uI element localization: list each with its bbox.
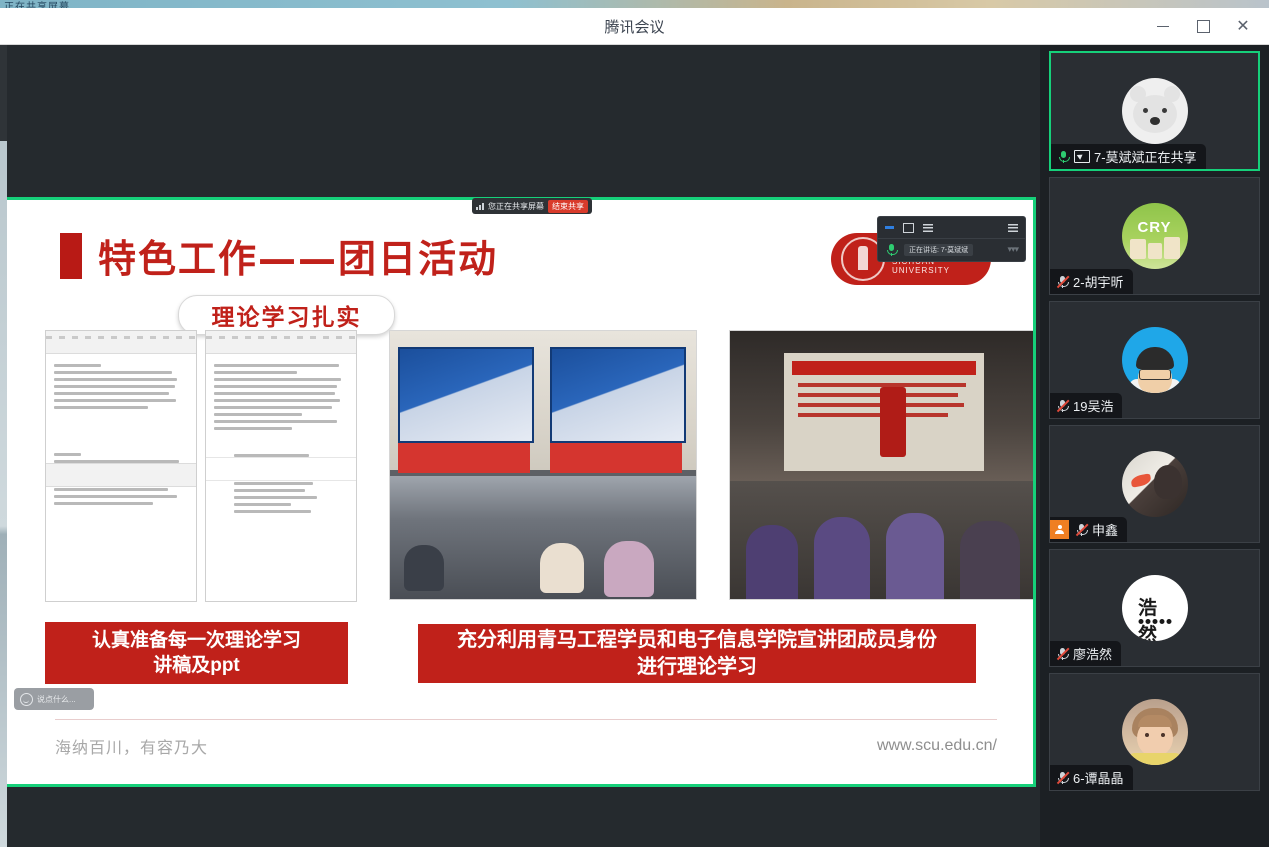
- photo-person-3: [540, 543, 584, 593]
- participant-tile-1[interactable]: CRY 2-胡宇昕: [1049, 177, 1260, 295]
- slide-title-group: 特色工作——团日活动: [60, 228, 498, 283]
- caption-right: 充分利用青马工程学员和电子信息学院宣讲团成员身份 进行理论学习: [418, 624, 976, 683]
- boy-portrait-avatar: [1122, 327, 1188, 393]
- microphone-icon[interactable]: [885, 243, 898, 256]
- photo-slide-heading: [792, 361, 976, 375]
- microphone-muted-icon: [1075, 523, 1088, 536]
- participant-name-3: 申鑫: [1092, 520, 1118, 539]
- minimize-icon[interactable]: [885, 226, 894, 229]
- share-status-pill: 您正在共享屏幕 结束共享: [472, 198, 592, 214]
- participant-namebar-3: 申鑫: [1050, 517, 1127, 542]
- chat-input-pill[interactable]: 说点什么...: [14, 688, 94, 710]
- photo-hall-person-3: [886, 513, 944, 599]
- photo-projection-right: [550, 347, 686, 443]
- maximize-icon: [1197, 20, 1210, 33]
- caption-right-line-2: 进行理论学习: [637, 654, 757, 680]
- footer-row: 海纳百川，有容乃大 www.scu.edu.cn/: [55, 720, 997, 758]
- participant-tile-4[interactable]: 浩然 廖浩然: [1049, 549, 1260, 667]
- participant-namebar-5: 6-谭晶晶: [1050, 765, 1133, 790]
- caption-left: 认真准备每一次理论学习 讲稿及ppt: [45, 622, 348, 684]
- floating-meeting-toolbar[interactable]: 正在讲话: 7-莫斌斌 ▾▾▾: [877, 216, 1026, 262]
- microphone-muted-icon: [1056, 399, 1069, 412]
- screen-share-icon: [1074, 150, 1090, 163]
- participant-name-1: 2-胡宇昕: [1073, 272, 1124, 291]
- slide-subtitle-badge: 理论学习扎实: [178, 295, 395, 335]
- panel-classroom-photo: [389, 330, 697, 610]
- photo-projection-left: [398, 347, 534, 443]
- window-controls: ✕: [1143, 8, 1263, 44]
- toolbar-speaking-row: 正在讲话: 7-莫斌斌 ▾▾▾: [878, 239, 1025, 260]
- panel-auditorium-photo: [729, 330, 1033, 610]
- caption-right-line-1: 充分利用青马工程学员和电子信息学院宣讲团成员身份: [457, 627, 937, 653]
- cry-cartoon-avatar: CRY: [1122, 203, 1188, 269]
- window-title-bar: 腾讯会议 ✕: [0, 8, 1269, 45]
- document-text-lines-3: [206, 354, 356, 440]
- calligraphy-avatar: 浩然: [1122, 575, 1188, 641]
- slide-content-panels: [45, 330, 1025, 610]
- koi-fish-photo-avatar: [1122, 451, 1188, 517]
- photo-person-2: [464, 543, 510, 595]
- photo-slide-line-2: [798, 393, 958, 397]
- window-title: 腾讯会议: [0, 16, 1269, 37]
- document-scan-pair: [45, 330, 357, 602]
- close-icon: ✕: [1236, 18, 1249, 34]
- photo-hall-person-1: [746, 525, 798, 599]
- photo-banner-right: [550, 443, 682, 473]
- minimize-icon: [1157, 26, 1169, 27]
- caption-left-line-1: 认真准备每一次理论学习: [92, 628, 301, 653]
- panel-scanned-documents: [45, 330, 357, 610]
- presentation-slide: 特色工作——团日活动 理论学习扎实 四川大学 SICHUAN UNIVERSIT…: [7, 200, 1033, 784]
- participant-tile-5[interactable]: 6-谭晶晶: [1049, 673, 1260, 791]
- microphone-muted-icon: [1056, 275, 1069, 288]
- document-page-right: [205, 330, 357, 602]
- background-app-edge-strip: [0, 45, 7, 847]
- panel-toggle-icon[interactable]: [1008, 224, 1018, 232]
- speaking-label: 正在讲话: 7-莫斌斌: [904, 244, 973, 256]
- minimize-button[interactable]: [1143, 11, 1183, 41]
- slide-title: 特色工作——团日活动: [98, 228, 498, 283]
- share-status-label: 您正在共享屏幕: [488, 201, 544, 212]
- rail-bottom-spacer: [1040, 797, 1269, 807]
- footer-url: www.scu.edu.cn/: [877, 737, 997, 755]
- waveform-icon: ▾▾▾: [1007, 244, 1018, 255]
- photo-person-4: [604, 541, 654, 597]
- photo-flag: [880, 387, 906, 457]
- child-photo-avatar: [1122, 699, 1188, 765]
- calligraphy-text: 浩然: [1138, 593, 1171, 641]
- participant-tile-2[interactable]: 19吴浩: [1049, 301, 1260, 419]
- participant-namebar-2: 19吴浩: [1050, 393, 1122, 418]
- photo-person-1: [404, 545, 444, 591]
- page-break: [206, 457, 356, 481]
- chat-input-placeholder: 说点什么...: [37, 694, 76, 705]
- microphone-icon: [1057, 150, 1070, 163]
- emoji-icon[interactable]: [20, 693, 33, 706]
- participant-namebar-1: 2-胡宇昕: [1050, 269, 1133, 294]
- menu-icon[interactable]: [923, 224, 933, 232]
- tencent-meeting-window: 腾讯会议 ✕ 特色工作——团日活动 理论学习扎实: [0, 8, 1269, 847]
- photo-hall-person-2: [814, 517, 870, 599]
- slide-subtitle-text: 理论学习扎实: [212, 298, 362, 332]
- photo-slide-line-4: [798, 413, 948, 417]
- stop-share-button[interactable]: 结束共享: [548, 200, 588, 213]
- participant-name-2: 19吴浩: [1073, 396, 1113, 415]
- second-page-ribbon: [46, 463, 196, 487]
- close-button[interactable]: ✕: [1223, 11, 1263, 41]
- photo-banner-left: [398, 443, 530, 473]
- meeting-body: 特色工作——团日活动 理论学习扎实 四川大学 SICHUAN UNIVERSIT…: [0, 45, 1269, 847]
- caption-left-line-2: 讲稿及ppt: [153, 653, 240, 678]
- photo-hall-person-4: [960, 521, 1020, 599]
- participant-namebar-4: 廖浩然: [1050, 641, 1121, 666]
- maximize-button[interactable]: [1183, 11, 1223, 41]
- shared-screen-stage[interactable]: 特色工作——团日活动 理论学习扎实 四川大学 SICHUAN UNIVERSIT…: [0, 45, 1040, 847]
- word-ribbon: [206, 331, 356, 354]
- document-text-lines: [46, 354, 196, 419]
- participant-rail[interactable]: 7-莫斌斌正在共享 CRY 2-胡宇昕: [1040, 45, 1269, 847]
- participant-name-0: 7-莫斌斌正在共享: [1094, 147, 1197, 166]
- classroom-lecture-photo: [389, 330, 697, 600]
- signal-icon: [476, 202, 484, 210]
- auditorium-lecture-photo: [729, 330, 1033, 600]
- participant-namebar-0: 7-莫斌斌正在共享: [1051, 144, 1206, 169]
- microphone-muted-icon: [1056, 771, 1069, 784]
- toolbar-window-row: [878, 217, 1025, 239]
- restore-icon[interactable]: [903, 223, 914, 233]
- slide-footer: 海纳百川，有容乃大 www.scu.edu.cn/: [55, 719, 997, 758]
- host-badge-icon: [1050, 520, 1069, 539]
- microphone-muted-icon: [1056, 647, 1069, 660]
- document-page-left: [45, 330, 197, 602]
- participant-name-4: 廖浩然: [1073, 644, 1112, 663]
- participant-name-5: 6-谭晶晶: [1073, 768, 1124, 787]
- participant-tile-3[interactable]: 申鑫: [1049, 425, 1260, 543]
- word-ribbon: [46, 331, 196, 354]
- participant-tile-0[interactable]: 7-莫斌斌正在共享: [1049, 51, 1260, 171]
- footer-motto: 海纳百川，有容乃大: [55, 734, 208, 758]
- polar-bear-avatar: [1122, 78, 1188, 144]
- title-accent-bar: [60, 233, 82, 279]
